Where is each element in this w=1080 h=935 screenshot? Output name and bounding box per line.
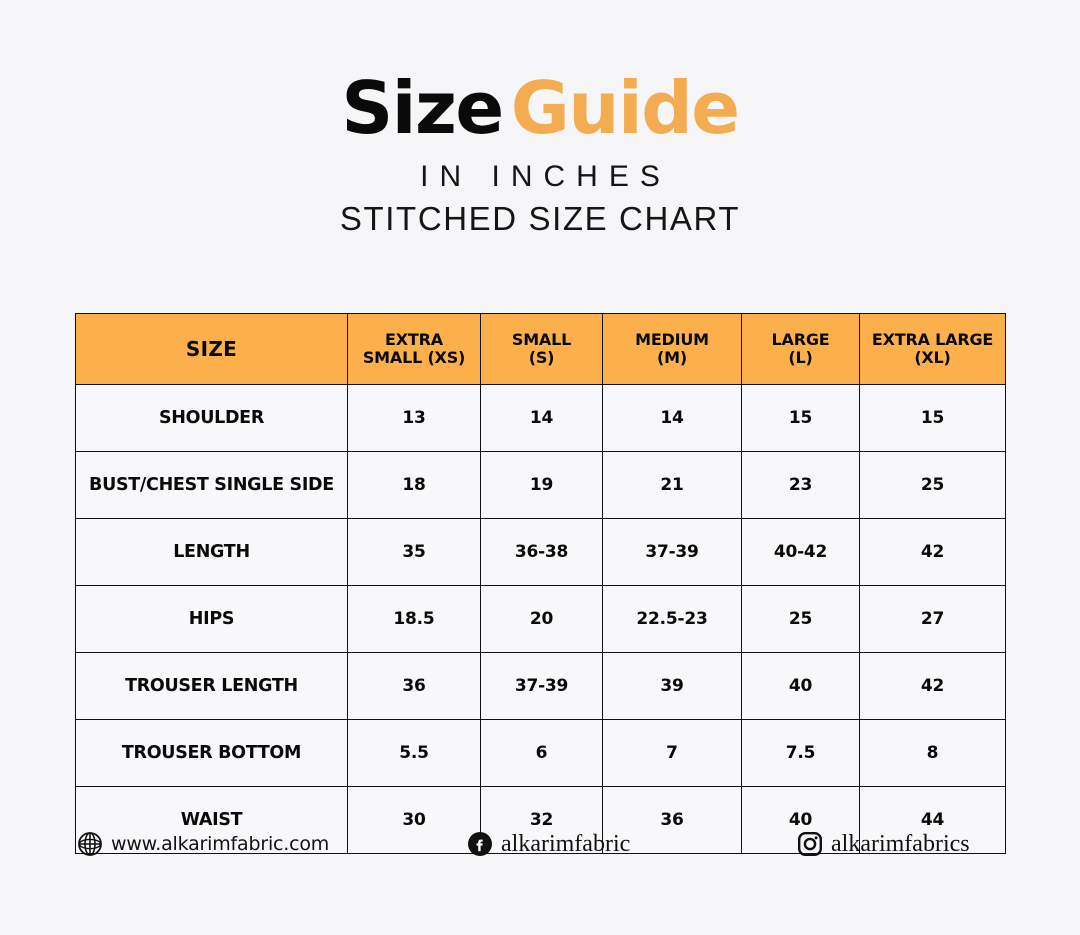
column-header-medium: MEDIUM (M) <box>603 314 742 385</box>
cell-bust-m: 21 <box>603 452 742 519</box>
column-header-small-line2: (S) <box>483 349 600 367</box>
column-header-small-line1: SMALL <box>483 331 600 349</box>
cell-bust-xl: 25 <box>860 452 1006 519</box>
page-title-word-size: Size <box>341 66 502 150</box>
cell-trouser-length-xs: 36 <box>348 653 481 720</box>
footer-instagram-link[interactable]: alkarimfabrics <box>795 829 1005 859</box>
column-header-medium-line1: MEDIUM <box>605 331 739 349</box>
table-row: BUST/CHEST SINGLE SIDE 18 19 21 23 25 <box>76 452 1006 519</box>
column-header-extra-large-line1: EXTRA LARGE <box>862 331 1003 349</box>
cell-length-m: 37-39 <box>603 519 742 586</box>
cell-length-l: 40-42 <box>742 519 860 586</box>
table-row: HIPS 18.5 20 22.5-23 25 27 <box>76 586 1006 653</box>
cell-trouser-bottom-xs: 5.5 <box>348 720 481 787</box>
subtitle-units: IN INCHES <box>0 160 1080 193</box>
cell-shoulder-xs: 13 <box>348 385 481 452</box>
table-header: SIZE EXTRA SMALL (XS) SMALL (S) MEDIUM (… <box>76 314 1006 385</box>
cell-hips-l: 25 <box>742 586 860 653</box>
cell-trouser-bottom-xl: 8 <box>860 720 1006 787</box>
cell-shoulder-l: 15 <box>742 385 860 452</box>
cell-trouser-bottom-l: 7.5 <box>742 720 860 787</box>
row-label-trouser-bottom: TROUSER BOTTOM <box>76 720 348 787</box>
row-label-trouser-length: TROUSER LENGTH <box>76 653 348 720</box>
cell-shoulder-s: 14 <box>481 385 603 452</box>
cell-trouser-length-s: 37-39 <box>481 653 603 720</box>
table-header-row: SIZE EXTRA SMALL (XS) SMALL (S) MEDIUM (… <box>76 314 1006 385</box>
size-chart-table: SIZE EXTRA SMALL (XS) SMALL (S) MEDIUM (… <box>75 313 1006 854</box>
column-header-extra-large-line2: (XL) <box>862 349 1003 367</box>
table-row: LENGTH 35 36-38 37-39 40-42 42 <box>76 519 1006 586</box>
cell-hips-m: 22.5-23 <box>603 586 742 653</box>
facebook-icon <box>465 829 495 859</box>
column-header-extra-large: EXTRA LARGE (XL) <box>860 314 1006 385</box>
row-label-hips: HIPS <box>76 586 348 653</box>
footer: www.alkarimfabric.com alkarimfabric alka… <box>75 818 1005 870</box>
subtitle-chart-type: STITCHED SIZE CHART <box>0 201 1080 237</box>
cell-hips-xs: 18.5 <box>348 586 481 653</box>
row-label-bust-chest-single-side: BUST/CHEST SINGLE SIDE <box>76 452 348 519</box>
column-header-extra-small-line1: EXTRA <box>350 331 478 349</box>
column-header-large-line2: (L) <box>744 349 857 367</box>
column-header-small: SMALL (S) <box>481 314 603 385</box>
table-row: TROUSER BOTTOM 5.5 6 7 7.5 8 <box>76 720 1006 787</box>
cell-bust-s: 19 <box>481 452 603 519</box>
cell-trouser-bottom-s: 6 <box>481 720 603 787</box>
column-header-large-line1: LARGE <box>744 331 857 349</box>
row-label-shoulder: SHOULDER <box>76 385 348 452</box>
instagram-icon <box>795 829 825 859</box>
table-body: SHOULDER 13 14 14 15 15 BUST/CHEST SINGL… <box>76 385 1006 854</box>
page-title: SizeGuide <box>0 72 1080 144</box>
globe-icon <box>75 829 105 859</box>
cell-length-xl: 42 <box>860 519 1006 586</box>
footer-website-label: www.alkarimfabric.com <box>111 833 329 855</box>
cell-hips-s: 20 <box>481 586 603 653</box>
cell-length-s: 36-38 <box>481 519 603 586</box>
table-row: TROUSER LENGTH 36 37-39 39 40 42 <box>76 653 1006 720</box>
table-row: SHOULDER 13 14 14 15 15 <box>76 385 1006 452</box>
cell-trouser-length-xl: 42 <box>860 653 1006 720</box>
footer-website-link[interactable]: www.alkarimfabric.com <box>75 829 465 859</box>
column-header-medium-line2: (M) <box>605 349 739 367</box>
row-label-length: LENGTH <box>76 519 348 586</box>
cell-shoulder-xl: 15 <box>860 385 1006 452</box>
cell-bust-xs: 18 <box>348 452 481 519</box>
cell-bust-l: 23 <box>742 452 860 519</box>
column-header-extra-small: EXTRA SMALL (XS) <box>348 314 481 385</box>
cell-hips-xl: 27 <box>860 586 1006 653</box>
page-title-word-guide: Guide <box>511 66 739 150</box>
size-guide-page: SizeGuide IN INCHES STITCHED SIZE CHART … <box>0 0 1080 935</box>
column-header-size: SIZE <box>76 314 348 385</box>
column-header-large: LARGE (L) <box>742 314 860 385</box>
cell-shoulder-m: 14 <box>603 385 742 452</box>
size-chart-table-wrapper: SIZE EXTRA SMALL (XS) SMALL (S) MEDIUM (… <box>75 313 1005 854</box>
footer-facebook-label: alkarimfabric <box>501 831 630 858</box>
cell-length-xs: 35 <box>348 519 481 586</box>
cell-trouser-bottom-m: 7 <box>603 720 742 787</box>
footer-instagram-label: alkarimfabrics <box>831 831 970 858</box>
column-header-extra-small-line2: SMALL (XS) <box>350 349 478 367</box>
cell-trouser-length-l: 40 <box>742 653 860 720</box>
cell-trouser-length-m: 39 <box>603 653 742 720</box>
footer-facebook-link[interactable]: alkarimfabric <box>465 829 795 859</box>
title-block: SizeGuide IN INCHES STITCHED SIZE CHART <box>0 0 1080 237</box>
